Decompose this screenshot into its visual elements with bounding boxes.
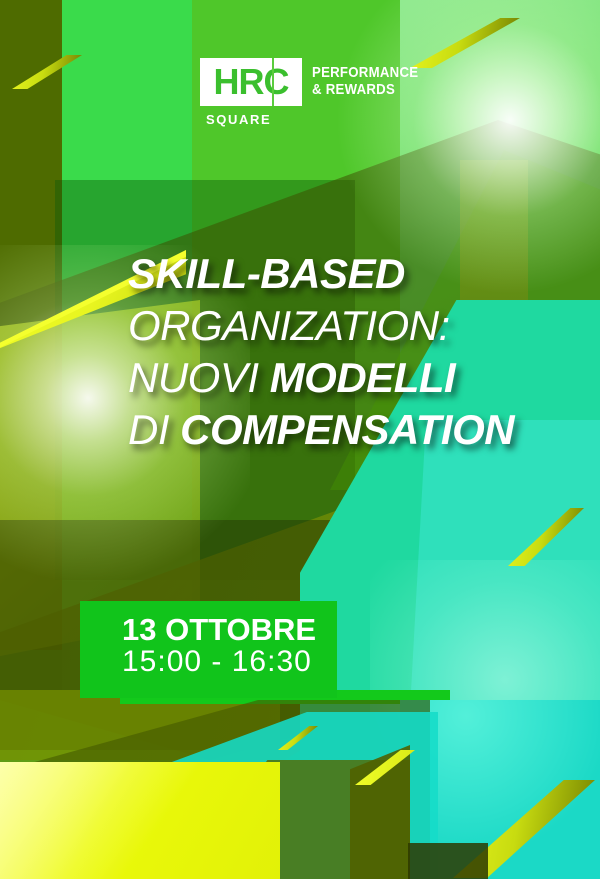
logo-mark-text: HRC: [200, 58, 302, 106]
title-line-2: ORGANIZATION:: [128, 300, 578, 352]
logo-box: HRC: [200, 58, 302, 106]
event-date: 13 OTTOBRE: [122, 612, 316, 648]
title-line-4-light: DI: [128, 406, 180, 453]
shape-bottom-yellow-highlight: [0, 762, 290, 879]
brand-logo: HRC SQUARE PERFORMANCE & REWARDS: [200, 58, 430, 146]
title-line-4: DI COMPENSATION: [128, 404, 578, 456]
title-line-3: NUOVI MODELLI: [128, 352, 578, 404]
logo-divider: [272, 58, 274, 106]
page-title: SKILL-BASED ORGANIZATION: NUOVI MODELLI …: [128, 248, 578, 456]
title-line-3-bold: MODELLI: [270, 354, 455, 401]
brand-tagline: PERFORMANCE & REWARDS: [312, 64, 418, 98]
logo-sub-text: SQUARE: [206, 112, 271, 127]
event-time: 15:00 - 16:30: [122, 645, 312, 679]
shape-bottom-olive-4: [408, 843, 488, 879]
brand-tagline-line-1: PERFORMANCE: [312, 64, 418, 81]
brand-tagline-line-2: & REWARDS: [312, 81, 418, 98]
event-poster: HRC SQUARE PERFORMANCE & REWARDS SKILL-B…: [0, 0, 600, 879]
title-line-1: SKILL-BASED: [128, 248, 578, 300]
title-line-3-light: NUOVI: [128, 354, 270, 401]
title-line-4-bold: COMPENSATION: [180, 406, 514, 453]
